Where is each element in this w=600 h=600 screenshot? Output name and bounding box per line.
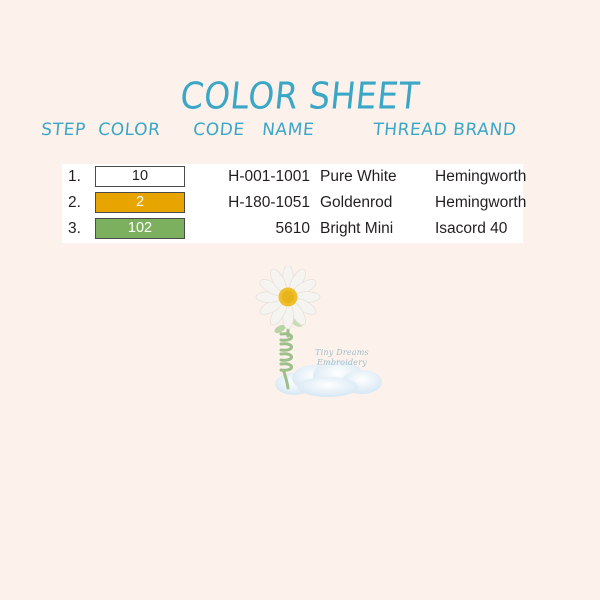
- page-title: COLOR SHEET: [0, 74, 600, 118]
- row-brand: Isacord 40: [435, 216, 575, 242]
- color-swatch: 102: [95, 218, 185, 239]
- color-sheet-document: COLOR SHEET STEP COLOR CODE NAME THREAD …: [0, 0, 600, 600]
- watermark-line-1: Tiny Dreams: [302, 348, 382, 358]
- color-swatch: 10: [95, 166, 185, 187]
- header-name: NAME: [261, 120, 315, 140]
- row-color-name: Pure White: [320, 164, 430, 190]
- table-row: 3. 102 5610 Bright Mini Isacord 40: [62, 216, 523, 242]
- color-swatch: 2: [95, 192, 185, 213]
- watermark-line-2: Embroidery: [302, 358, 382, 368]
- daisy-petals: [256, 266, 320, 329]
- row-code: 5610: [190, 216, 310, 242]
- color-table: 1. 10 H-001-1001 Pure White Hemingworth …: [62, 164, 523, 243]
- row-brand: Hemingworth: [435, 164, 575, 190]
- row-color-name: Bright Mini: [320, 216, 430, 242]
- header-color: COLOR: [97, 120, 161, 140]
- table-row: 2. 2 H-180-1051 Goldenrod Hemingworth: [62, 190, 523, 216]
- header-step: STEP: [40, 120, 86, 140]
- header-brand: THREAD BRAND: [372, 120, 517, 140]
- header-code: CODE: [192, 120, 245, 140]
- row-code: H-180-1051: [190, 190, 310, 216]
- watermark-text: Tiny Dreams Embroidery: [302, 348, 382, 368]
- row-step: 3.: [68, 216, 92, 242]
- table-row: 1. 10 H-001-1001 Pure White Hemingworth: [62, 164, 523, 190]
- daisy-artwork: Tiny Dreams Embroidery: [250, 266, 385, 401]
- column-headers: STEP COLOR CODE NAME THREAD BRAND: [0, 120, 600, 144]
- row-code: H-001-1001: [190, 164, 310, 190]
- row-color-name: Goldenrod: [320, 190, 430, 216]
- row-brand: Hemingworth: [435, 190, 575, 216]
- row-step: 2.: [68, 190, 92, 216]
- row-step: 1.: [68, 164, 92, 190]
- daisy-illustration: [250, 266, 385, 401]
